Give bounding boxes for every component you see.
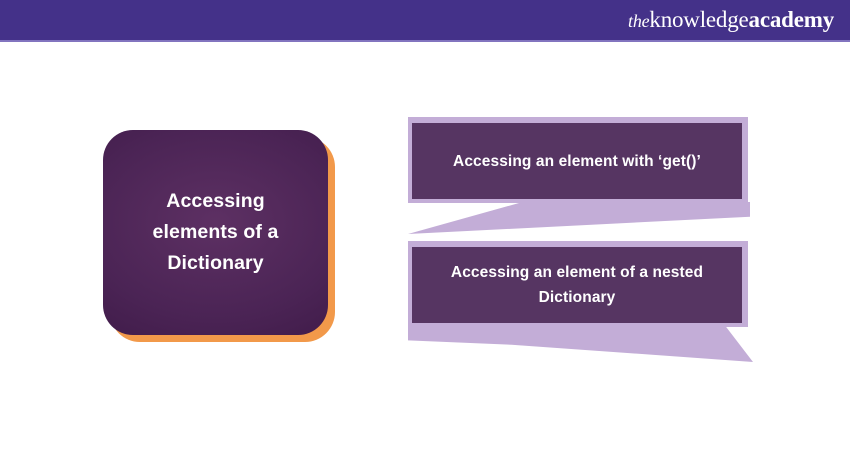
main-concept-label: Accessing elements of a Dictionary bbox=[103, 186, 328, 279]
branch-callout-1-tail bbox=[408, 202, 750, 234]
logo-text-academy: academy bbox=[749, 7, 834, 32]
branch-callout-2-tail bbox=[408, 326, 753, 362]
branch-callout-1-body: Accessing an element with ‘get()’ bbox=[412, 123, 742, 199]
branch-callout-2: Accessing an element of a nested Diction… bbox=[408, 241, 756, 363]
branch-callout-1-label: Accessing an element with ‘get()’ bbox=[439, 149, 715, 174]
logo-text-knowledge: knowledge bbox=[649, 7, 748, 32]
branch-callout-2-body: Accessing an element of a nested Diction… bbox=[412, 247, 742, 323]
main-concept-node: Accessing elements of a Dictionary bbox=[103, 130, 335, 342]
branch-callout-1: Accessing an element with ‘get()’ bbox=[408, 117, 753, 235]
branch-callout-2-label: Accessing an element of a nested Diction… bbox=[412, 260, 742, 310]
main-concept-box: Accessing elements of a Dictionary bbox=[103, 130, 328, 335]
logo-text-the: the bbox=[628, 11, 649, 31]
theknowledgeacademy-logo: theknowledgeacademy bbox=[628, 6, 834, 35]
header-underline bbox=[0, 40, 850, 42]
